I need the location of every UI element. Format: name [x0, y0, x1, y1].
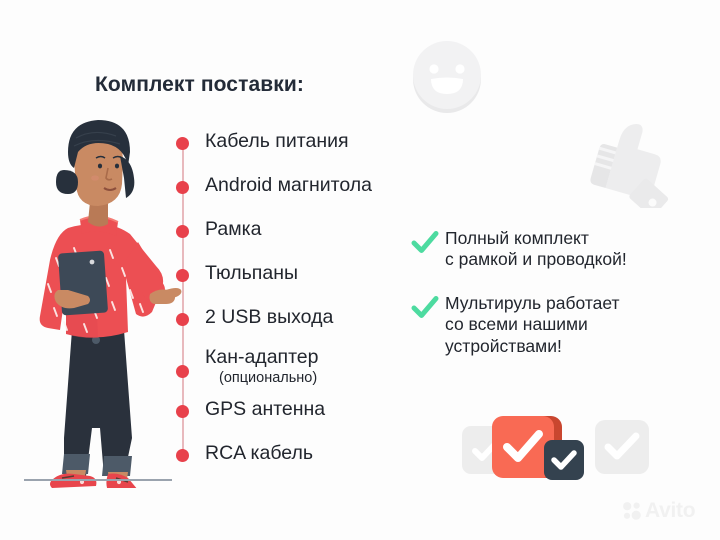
list-item-label: RCA кабель [205, 442, 313, 464]
benefit-line: Мультируль работает [445, 293, 620, 313]
benefit-line: устройствами! [445, 336, 562, 356]
ground-line [24, 479, 172, 481]
list-item-label: Android магнитола [205, 174, 372, 196]
benefit-item: Мультируль работает со всеми нашими устр… [411, 293, 620, 357]
list-item: 2 USB выхода [176, 308, 333, 328]
list-item: Кабель питания [176, 132, 349, 152]
checkbox-group-icon [462, 414, 642, 486]
benefit-line: с рамкой и проводкой! [445, 249, 627, 269]
avito-logo-icon [622, 501, 642, 521]
check-icon [411, 294, 439, 322]
thumbs-up-icon [578, 112, 670, 208]
list-item: Кан-адаптер (опционально) [176, 348, 319, 385]
poster-canvas: Кабель питания Android магнитола Рамка Т… [0, 0, 720, 540]
bullet-dot-icon [176, 313, 189, 326]
list-item: GPS антенна [176, 400, 325, 420]
bullet-dot-icon [176, 181, 189, 194]
avito-wordmark: Avito [645, 500, 695, 521]
bullet-dot-icon [176, 365, 189, 378]
list-item: Android магнитола [176, 176, 372, 196]
checkbox-dark [544, 440, 584, 480]
bullet-dot-icon [176, 137, 189, 150]
list-item-label: Тюльпаны [205, 262, 298, 284]
woman-pointing-illustration [12, 108, 182, 488]
check-icon [411, 229, 439, 257]
bullet-dot-icon [176, 225, 189, 238]
bullet-dot-icon [176, 269, 189, 282]
benefit-item: Полный комплект с рамкой и проводкой! [411, 228, 627, 271]
checkbox-gray-right [595, 420, 649, 474]
benefit-line: Полный комплект [445, 228, 589, 248]
avito-watermark: Avito [622, 500, 695, 521]
list-item: RCA кабель [176, 444, 313, 464]
bullet-dot-icon [176, 405, 189, 418]
list-item: Рамка [176, 220, 261, 240]
list-item-label: Рамка [205, 218, 261, 240]
smiley-face-icon [408, 38, 486, 116]
page-title: Комплект поставки: [95, 73, 304, 97]
list-item-sublabel: (опционально) [219, 371, 319, 386]
list-item-label: 2 USB выхода [205, 306, 333, 328]
benefit-line: со всеми нашими [445, 314, 588, 334]
list-item-label: GPS антенна [205, 398, 325, 420]
list-item-label: Кабель питания [205, 130, 349, 152]
list-item-label: Кан-адаптер [205, 346, 319, 368]
bullet-dot-icon [176, 449, 189, 462]
list-item: Тюльпаны [176, 264, 298, 284]
